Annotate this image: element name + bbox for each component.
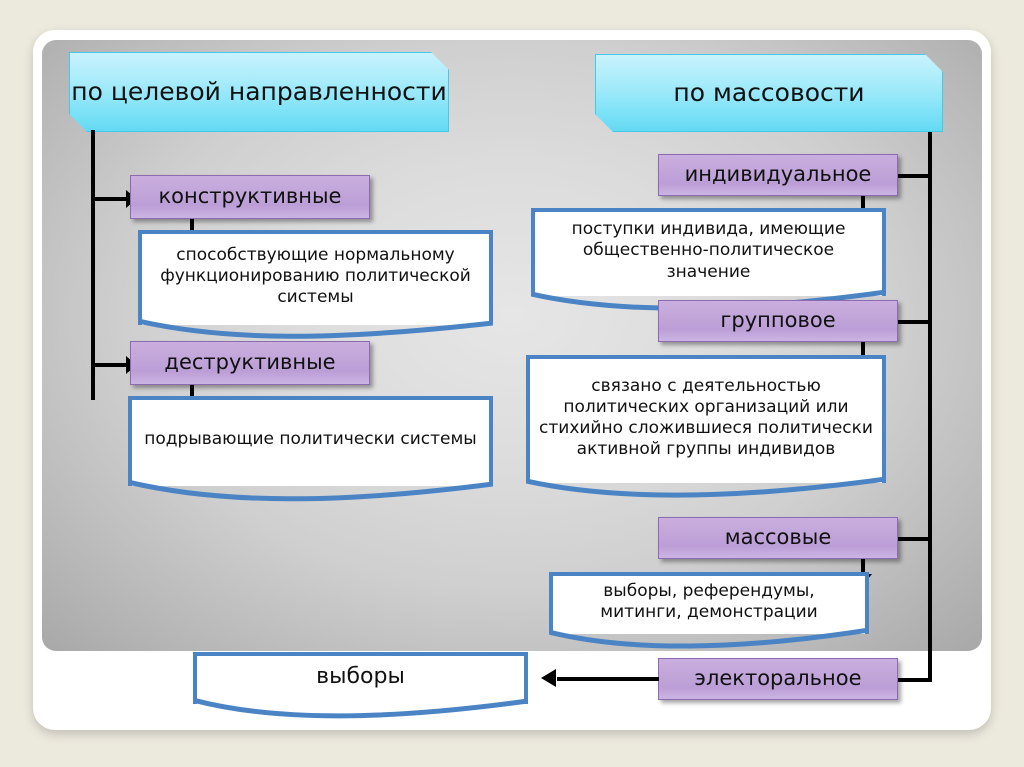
category-electoral[interactable]: электоральное	[658, 658, 898, 700]
category-individual-label: индивидуальное	[685, 163, 872, 186]
category-mass-label: массовые	[725, 526, 832, 549]
left-trunk-line	[91, 130, 95, 400]
header-by-purpose-label: по целевой направленности	[71, 77, 446, 107]
category-destructive[interactable]: деструктивные	[130, 341, 370, 385]
arrow-elections-left-icon	[541, 669, 556, 687]
category-constructive[interactable]: конструктивные	[130, 175, 370, 219]
description-destructive-label: подрывающие политически системы	[144, 429, 476, 450]
category-electoral-label: электоральное	[694, 667, 861, 690]
category-destructive-label: деструктивные	[164, 351, 335, 374]
right-branch-electoral	[895, 678, 932, 682]
right-branch-individual	[895, 174, 932, 178]
description-destructive: подрывающие политически системы	[128, 396, 493, 486]
box-elections: выборы	[193, 652, 528, 704]
box-elections-label: выборы	[316, 663, 405, 691]
right-branch-group	[895, 320, 932, 324]
category-group-label: групповое	[720, 309, 835, 332]
description-group: связано с деятельностью политических орг…	[526, 355, 886, 483]
description-mass: выборы, референдумы, митинги, демонстрац…	[549, 572, 869, 634]
description-constructive: способствующие нормальному функционирова…	[138, 230, 493, 325]
wavy-bottom-edge	[193, 698, 528, 720]
header-by-scale: по массовости	[595, 54, 943, 132]
connector-electoral-to-elections	[557, 677, 659, 681]
description-mass-label: выборы, референдумы, митинги, демонстрац…	[561, 581, 857, 624]
description-constructive-label: способствующие нормальному функционирова…	[150, 245, 481, 309]
right-branch-mass	[895, 537, 932, 541]
left-branch-destructive	[91, 363, 129, 367]
category-group[interactable]: групповое	[658, 300, 898, 342]
header-by-purpose: по целевой направленности	[69, 52, 449, 132]
description-individual: поступки индивида, имеющие общественно-п…	[531, 208, 886, 296]
category-individual[interactable]: индивидуальное	[658, 154, 898, 196]
category-mass[interactable]: массовые	[658, 517, 898, 559]
header-by-scale-label: по массовости	[673, 78, 864, 108]
left-branch-constructive	[91, 197, 129, 201]
description-individual-label: поступки индивида, имеющие общественно-п…	[543, 219, 874, 283]
right-trunk-line	[928, 132, 932, 680]
slide-canvas: по целевой направленности по массовости …	[33, 30, 991, 730]
category-constructive-label: конструктивные	[159, 185, 342, 208]
description-group-label: связано с деятельностью политических орг…	[538, 376, 874, 461]
